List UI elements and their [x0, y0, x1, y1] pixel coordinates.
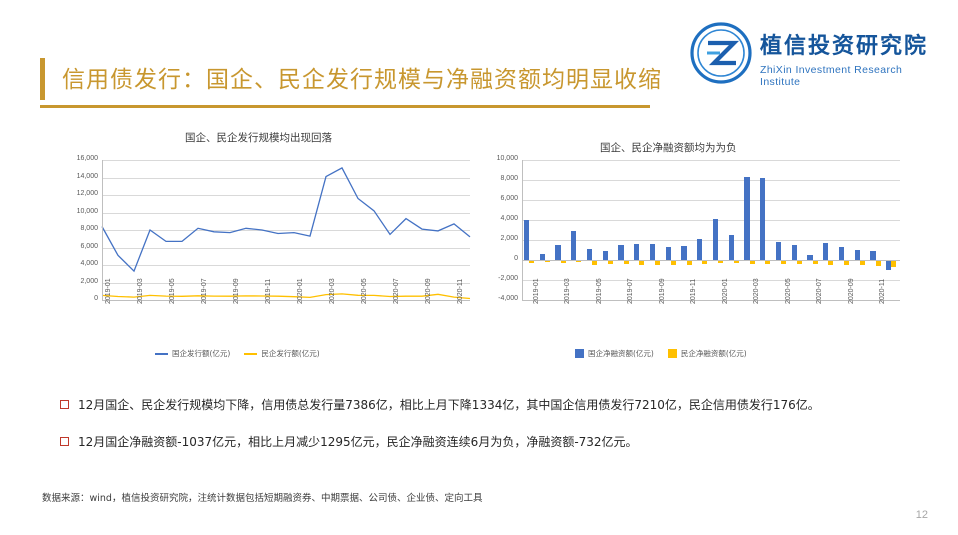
y-axis-tick: 4,000	[480, 215, 518, 222]
brand-logo: 植信投资研究院 ZhiXin Investment Research Insti…	[690, 22, 940, 84]
bar	[666, 247, 671, 261]
legend-label: 国企净融资额(亿元)	[588, 348, 654, 359]
bar	[776, 242, 781, 260]
gridline	[522, 220, 900, 221]
x-axis-tick: 2020-03	[753, 278, 760, 304]
chart-legend: 国企发行额(亿元)民企发行额(亿元)	[155, 348, 320, 359]
bullet-text-2: 12月国企净融资额-1037亿元，相比上月减少1295亿元，民企净融资连续6月为…	[78, 433, 638, 450]
x-axis-tick: 2019-09	[659, 278, 666, 304]
chart-panel-left: 国企、民企发行规模均出现回落 02,0004,0006,0008,00010,0…	[60, 130, 480, 360]
legend-item: 民企发行额(亿元)	[244, 348, 319, 359]
bar	[555, 245, 560, 261]
x-axis-line	[522, 300, 900, 301]
x-axis-tick: 2020-03	[329, 278, 336, 304]
legend-label: 国企发行额(亿元)	[172, 348, 230, 359]
gridline	[522, 280, 900, 281]
x-axis-tick: 2020-05	[361, 278, 368, 304]
x-axis-tick: 2019-11	[265, 279, 272, 304]
x-axis-tick: 2020-01	[722, 278, 729, 304]
brand-name-cn: 植信投资研究院	[760, 28, 940, 60]
x-axis-line	[102, 300, 470, 301]
x-axis-tick: 2019-05	[169, 278, 176, 304]
bar	[729, 235, 734, 261]
bar	[524, 220, 529, 261]
legend-item: 国企发行额(亿元)	[155, 348, 230, 359]
bar	[713, 219, 718, 261]
x-axis-tick: 2019-01	[533, 278, 540, 304]
x-axis-tick: 2019-01	[105, 278, 112, 304]
series-1	[60, 152, 480, 362]
bar	[823, 243, 828, 260]
x-axis-tick: 2019-11	[690, 279, 697, 304]
x-axis-tick: 2019-03	[137, 278, 144, 304]
x-axis-tick: 2020-07	[393, 278, 400, 304]
y-axis-line	[522, 160, 523, 300]
brand-name-en: ZhiXin Investment Research Institute	[760, 64, 940, 88]
gridline	[522, 160, 900, 161]
bar	[618, 245, 623, 260]
legend-item: 国企净融资额(亿元)	[575, 348, 654, 359]
y-axis-tick: 8,000	[480, 175, 518, 182]
gridline	[522, 200, 900, 201]
gridline	[522, 240, 900, 241]
x-axis-tick: 2020-11	[457, 279, 464, 304]
bullet-marker-2	[60, 437, 69, 446]
title-accent-bar	[40, 58, 45, 100]
line-chart-issuance: 02,0004,0006,0008,00010,00012,00014,0001…	[60, 152, 480, 362]
legend-swatch	[244, 353, 257, 355]
y-axis-tick: 10,000	[480, 155, 518, 162]
x-axis-tick: 2020-11	[879, 279, 886, 304]
y-axis-tick: -2,000	[480, 275, 518, 282]
x-axis-tick: 2019-09	[233, 278, 240, 304]
legend-label: 民企净融资额(亿元)	[681, 348, 747, 359]
bar	[870, 251, 875, 261]
x-axis-tick: 2020-09	[848, 278, 855, 304]
x-axis-tick: 2020-09	[425, 278, 432, 304]
zero-axis	[522, 260, 900, 261]
bullet-text-1: 12月国企、民企发行规模均下降，信用债总发行量7386亿，相比上月下降1334亿…	[78, 396, 820, 413]
chart-legend: 国企净融资额(亿元)民企净融资额(亿元)	[575, 348, 747, 359]
zx-monogram-icon	[690, 22, 752, 84]
y-axis-tick: 0	[480, 255, 518, 262]
y-axis-tick: 6,000	[480, 195, 518, 202]
x-axis-tick: 2020-01	[297, 278, 304, 304]
chart-panel-right: 国企、民企净融资额均为为负 -4,000-2,00002,0004,0006,0…	[480, 130, 910, 360]
bar	[792, 245, 797, 261]
bar	[681, 246, 686, 261]
x-axis-tick: 2019-05	[596, 278, 603, 304]
legend-swatch	[155, 353, 168, 355]
brand-text: 植信投资研究院 ZhiXin Investment Research Insti…	[760, 28, 940, 88]
gridline	[522, 180, 900, 181]
title-underline	[40, 105, 650, 108]
chart-title-left: 国企、民企发行规模均出现回落	[185, 130, 332, 145]
x-axis-tick: 2020-07	[816, 278, 823, 304]
bar	[744, 177, 749, 261]
bar	[855, 250, 860, 260]
bar	[603, 251, 608, 260]
bar	[760, 178, 765, 261]
x-axis-tick: 2020-05	[785, 278, 792, 304]
bar	[587, 249, 592, 260]
legend-label: 民企发行额(亿元)	[261, 348, 319, 359]
legend-swatch	[575, 349, 584, 358]
y-axis-line	[102, 160, 103, 300]
bar	[697, 239, 702, 261]
slide: 植信投资研究院 ZhiXin Investment Research Insti…	[0, 0, 958, 535]
bullet-marker-1	[60, 400, 69, 409]
page-number: 12	[916, 509, 928, 521]
bar	[571, 231, 576, 260]
legend-item: 民企净融资额(亿元)	[668, 348, 747, 359]
x-axis-tick: 2019-03	[564, 278, 571, 304]
bar	[634, 244, 639, 261]
y-axis-tick: -4,000	[480, 295, 518, 302]
legend-swatch	[668, 349, 677, 358]
source-note: 数据来源：wind，植信投资研究院，注统计数据包括短期融资券、中期票据、公司债、…	[42, 490, 482, 504]
x-axis-tick: 2019-07	[627, 278, 634, 304]
page-title: 信用债发行：国企、民企发行规模与净融资额均明显收缩	[62, 60, 662, 94]
y-axis-tick: 2,000	[480, 235, 518, 242]
bar	[891, 260, 896, 267]
x-axis-tick: 2019-07	[201, 278, 208, 304]
bar-chart-net-financing: -4,000-2,00002,0004,0006,0008,00010,0002…	[480, 152, 910, 362]
bar	[650, 244, 655, 260]
bar	[839, 247, 844, 261]
